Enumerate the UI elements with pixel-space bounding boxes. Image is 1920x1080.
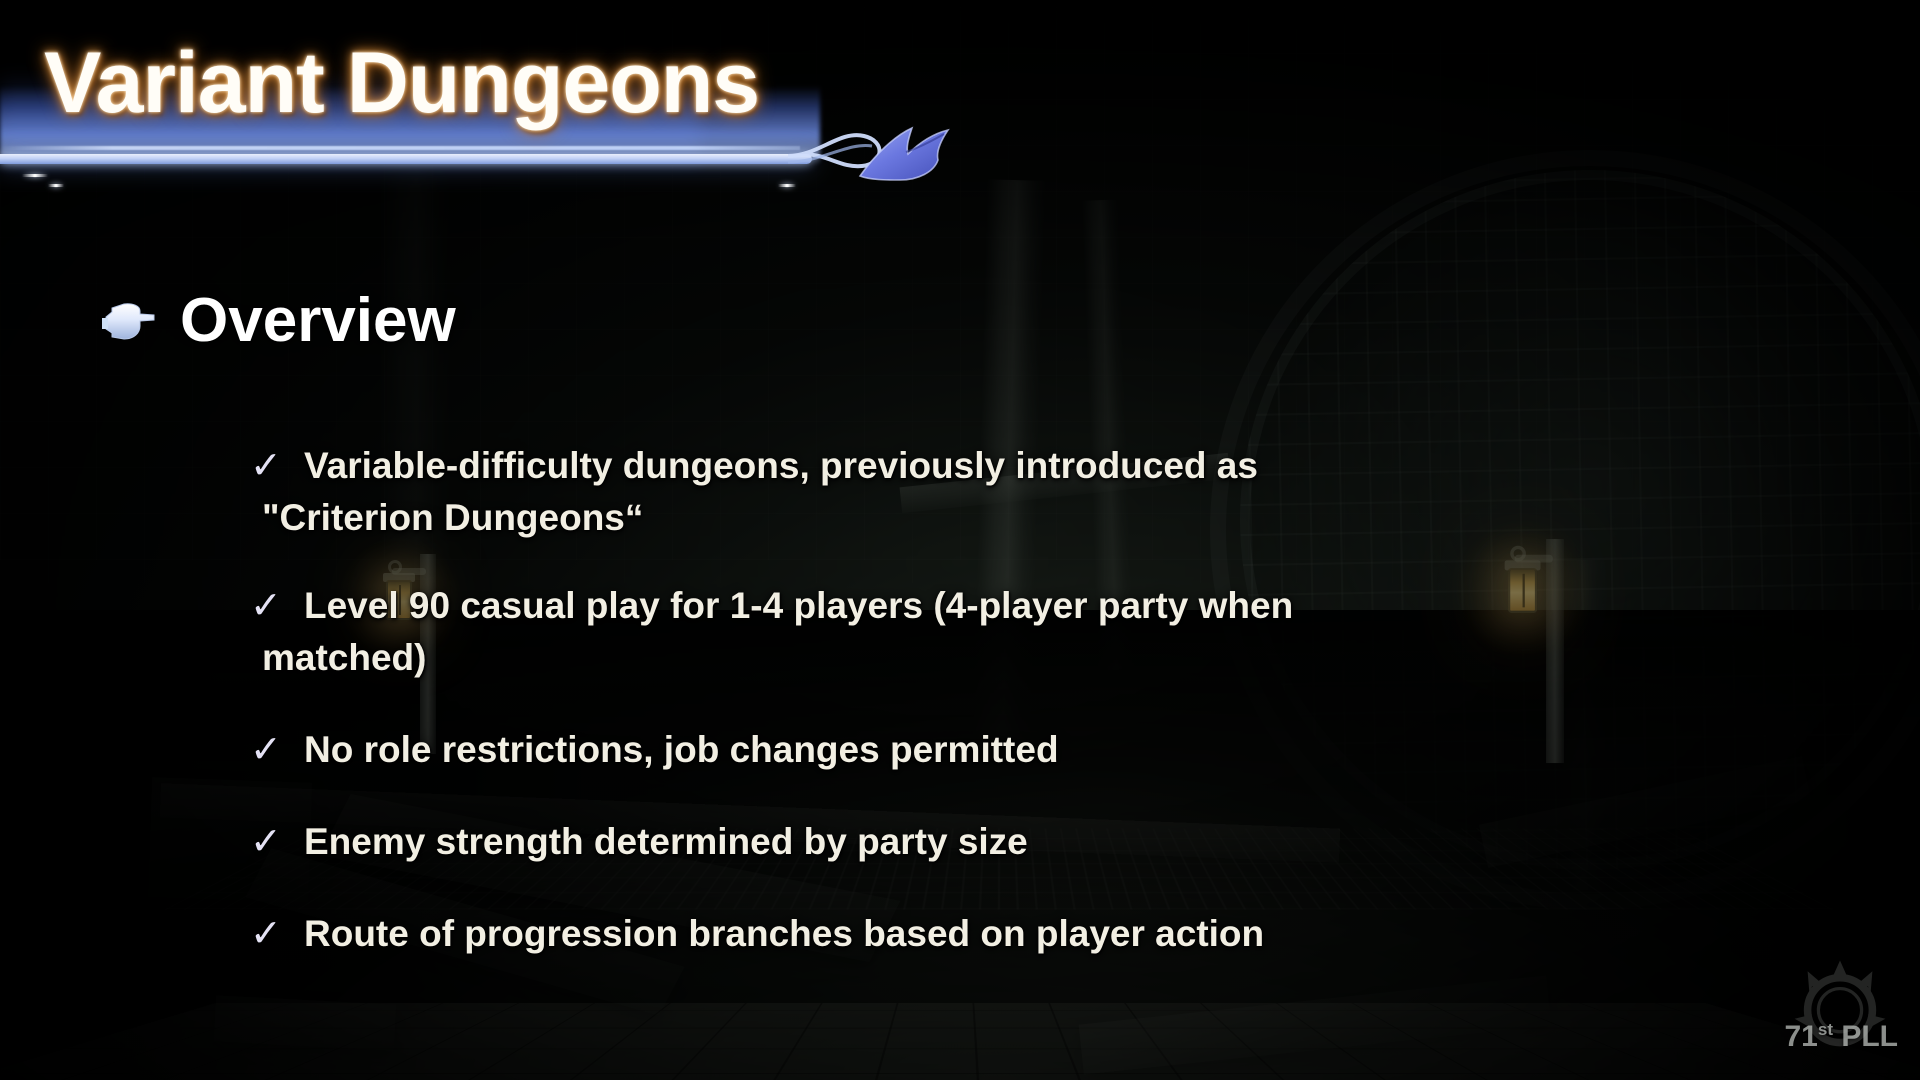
section-title: Overview: [180, 285, 456, 356]
bullet-text: Route of progression branches based on p…: [304, 908, 1810, 960]
watermark-number: 71: [1784, 1020, 1817, 1053]
check-icon: ✓: [250, 908, 300, 960]
check-icon: ✓: [250, 580, 300, 632]
bullet-item: ✓ Level 90 casual play for 1-4 players (…: [250, 580, 1810, 684]
watermark-ordinal: st: [1818, 1020, 1833, 1039]
check-icon: ✓: [250, 816, 300, 868]
presentation-slide: Variant Dungeons Overview ✓: [0, 0, 1920, 1080]
bullet-item: ✓ Route of progression branches based on…: [250, 908, 1810, 960]
bullet-item: ✓ Variable-difficulty dungeons, previous…: [250, 440, 1810, 544]
check-icon: ✓: [250, 440, 300, 492]
bullet-text: No role restrictions, job changes permit…: [304, 724, 1810, 776]
bullet-line-2: "Criterion Dungeons“: [262, 492, 1810, 544]
watermark-label: 71st PLL: [1784, 1020, 1898, 1054]
bullet-list: ✓ Variable-difficulty dungeons, previous…: [250, 440, 1810, 984]
bullet-line-2: matched): [262, 632, 1810, 684]
bullet-text: Level 90 casual play for 1-4 players (4-…: [304, 580, 1810, 684]
slide-content: Overview ✓ Variable-difficulty dungeons,…: [0, 0, 1920, 1080]
bullet-line-1: Variable-difficulty dungeons, previously…: [304, 445, 1258, 486]
bullet-item: ✓ No role restrictions, job changes perm…: [250, 724, 1810, 776]
section-heading-row: Overview: [100, 285, 456, 356]
bullet-line-1: Level 90 casual play for 1-4 players (4-…: [304, 585, 1293, 626]
watermark-name: PLL: [1841, 1020, 1898, 1053]
bullet-text: Enemy strength determined by party size: [304, 816, 1810, 868]
bullet-text: Variable-difficulty dungeons, previously…: [304, 440, 1810, 544]
pointing-hand-icon: [100, 299, 158, 343]
check-icon: ✓: [250, 724, 300, 776]
bullet-item: ✓ Enemy strength determined by party siz…: [250, 816, 1810, 868]
